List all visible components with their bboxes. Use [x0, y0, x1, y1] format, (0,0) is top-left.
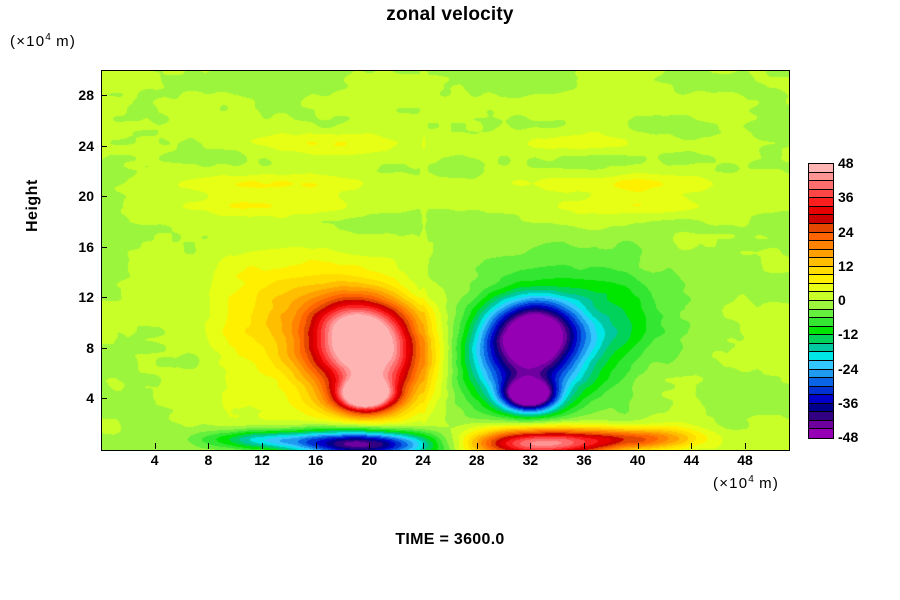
- y-axis-tick-labels: 481216202428: [50, 70, 94, 449]
- colorbar-swatch-22: [809, 352, 833, 361]
- colorbar-swatch-18: [809, 318, 833, 327]
- colorbar-swatch-15: [809, 292, 833, 301]
- colorbar-swatch-21: [809, 344, 833, 353]
- zonal-velocity-contour-field: [102, 71, 789, 450]
- x-tick-label-44: 44: [669, 452, 713, 468]
- y-tick-label-12: 12: [54, 289, 94, 305]
- x-unit-prefix: (×10: [713, 475, 748, 492]
- colorbar-label-neg36: -36: [838, 395, 858, 411]
- x-tick-label-40: 40: [616, 452, 660, 468]
- x-tick-label-24: 24: [401, 452, 445, 468]
- colorbar-swatch-5: [809, 207, 833, 216]
- x-tick-label-8: 8: [186, 452, 230, 468]
- colorbar-swatch-3: [809, 190, 833, 199]
- colorbar-scale: [808, 163, 834, 439]
- x-axis-tick-labels: 4812162024283236404448: [101, 452, 788, 474]
- x-tick-label-48: 48: [723, 452, 767, 468]
- colorbar-swatch-16: [809, 301, 833, 310]
- colorbar-swatch-8: [809, 233, 833, 242]
- colorbar-swatch-30: [809, 421, 833, 430]
- colorbar-label-0: 0: [838, 292, 846, 308]
- x-tick-label-36: 36: [562, 452, 606, 468]
- y-tick-label-16: 16: [54, 239, 94, 255]
- colorbar-label-neg12: -12: [838, 326, 858, 342]
- x-tick-label-32: 32: [508, 452, 552, 468]
- colorbar-label-48: 48: [838, 155, 854, 171]
- x-tick-label-4: 4: [133, 452, 177, 468]
- y-tick-label-8: 8: [54, 340, 94, 356]
- colorbar-swatch-0: [809, 164, 833, 173]
- colorbar-swatch-2: [809, 181, 833, 190]
- colorbar-swatch-10: [809, 250, 833, 259]
- colorbar-swatch-6: [809, 215, 833, 224]
- x-tick-label-16: 16: [294, 452, 338, 468]
- colorbar-label-12: 12: [838, 258, 854, 274]
- colorbar-swatch-24: [809, 370, 833, 379]
- colorbar-swatch-1: [809, 173, 833, 182]
- time-caption: TIME = 3600.0: [0, 531, 900, 549]
- y-tick-label-4: 4: [54, 390, 94, 406]
- colorbar-swatch-27: [809, 395, 833, 404]
- colorbar-swatch-17: [809, 310, 833, 319]
- x-axis-unit-label: (×104 m): [713, 474, 779, 492]
- colorbar-swatch-9: [809, 241, 833, 250]
- colorbar-swatch-19: [809, 327, 833, 336]
- colorbar-swatch-29: [809, 412, 833, 421]
- colorbar-swatch-11: [809, 258, 833, 267]
- colorbar-swatch-14: [809, 284, 833, 293]
- colorbar-swatch-20: [809, 335, 833, 344]
- y-tick-label-24: 24: [54, 138, 94, 154]
- contour-plot-area: [101, 70, 790, 451]
- colorbar-swatch-13: [809, 275, 833, 284]
- colorbar-swatch-4: [809, 198, 833, 207]
- x-tick-label-28: 28: [455, 452, 499, 468]
- colorbar-swatch-25: [809, 378, 833, 387]
- colorbar-label-neg48: -48: [838, 429, 858, 445]
- y-unit-prefix: (×10: [10, 33, 45, 50]
- x-unit-suffix: m): [754, 475, 779, 492]
- y-axis-title: Height: [24, 179, 42, 232]
- x-tick-label-12: 12: [240, 452, 284, 468]
- colorbar-swatch-26: [809, 387, 833, 396]
- colorbar-swatch-28: [809, 404, 833, 413]
- y-unit-suffix: m): [51, 33, 76, 50]
- page-title: zonal velocity: [0, 4, 900, 26]
- x-tick-label-20: 20: [347, 452, 391, 468]
- y-axis-unit-label: (×104 m): [10, 32, 76, 50]
- colorbar-label-24: 24: [838, 224, 854, 240]
- colorbar-swatch-7: [809, 224, 833, 233]
- y-tick-label-20: 20: [54, 188, 94, 204]
- colorbar-swatch-23: [809, 361, 833, 370]
- y-tick-label-28: 28: [54, 87, 94, 103]
- colorbar-tick-labels: 483624120-12-24-36-48: [838, 163, 894, 439]
- colorbar-swatch-31: [809, 429, 833, 438]
- colorbar-label-neg24: -24: [838, 361, 858, 377]
- colorbar-label-36: 36: [838, 189, 854, 205]
- colorbar-swatch-12: [809, 267, 833, 276]
